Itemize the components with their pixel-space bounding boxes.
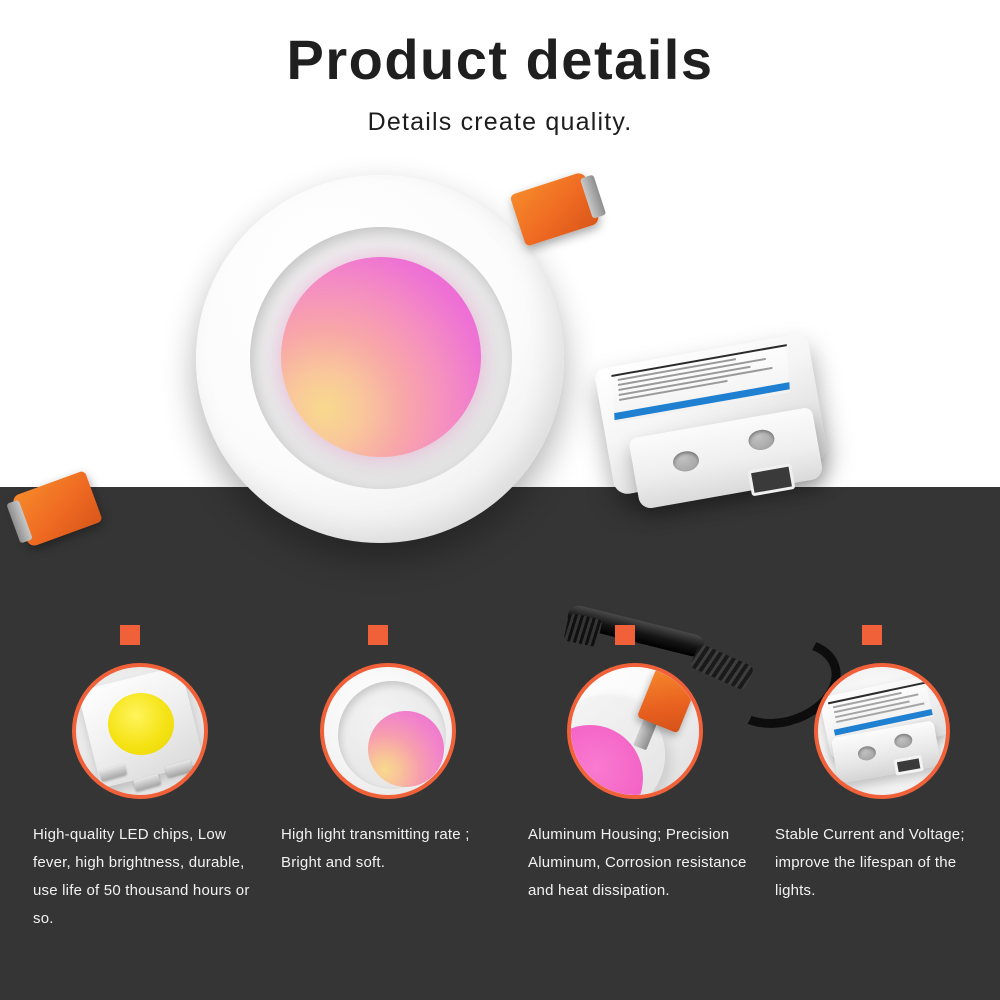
feature-item-aluminum-housing: Aluminum Housing; Precision Aluminum, Co… [517, 600, 765, 905]
spring-clip-bottom-left [11, 470, 103, 547]
rgb-lens [281, 257, 481, 457]
thumbnail-wrapper [72, 663, 270, 799]
phosphor-dot [108, 693, 174, 755]
dc-socket [748, 463, 796, 496]
dc-socket [893, 755, 923, 776]
feature-item-led-chip: High-quality LED chips, Low fever, high … [22, 600, 270, 933]
feature-text: Aluminum Housing; Precision Aluminum, Co… [528, 821, 756, 905]
mounting-hole [857, 745, 877, 762]
feature-item-light-transmission: High light transmitting rate ; Bright an… [270, 600, 518, 877]
lens-surface [368, 711, 444, 787]
mounting-hole [671, 449, 700, 473]
product-details-page: Product details Details create quality. [0, 0, 1000, 1000]
thumbnail-wrapper [567, 663, 765, 799]
orange-square-marker [615, 625, 635, 645]
downlight-bezel [196, 175, 564, 543]
feature-text: High-quality LED chips, Low fever, high … [33, 821, 261, 933]
orange-square-marker [120, 625, 140, 645]
page-title: Product details [0, 0, 1000, 88]
page-header: Product details Details create quality. [0, 0, 1000, 160]
hero-product-image [0, 150, 1000, 610]
feature-list: High-quality LED chips, Low fever, high … [0, 600, 1000, 1000]
feature-item-stable-current: Stable Current and Voltage; improve the … [764, 600, 1000, 905]
spring-clip-top-right [510, 171, 601, 246]
orange-square-marker [368, 625, 388, 645]
mounting-hole [747, 428, 776, 452]
led-driver-box [594, 332, 835, 527]
lens-ring [338, 681, 446, 789]
driver-icon [814, 663, 950, 799]
thumbnail-wrapper [320, 663, 518, 799]
feature-text: Stable Current and Voltage; improve the … [775, 821, 967, 905]
aluminum-housing-icon [567, 663, 703, 799]
feature-text: High light transmitting rate ; Bright an… [281, 821, 509, 877]
orange-square-marker [862, 625, 882, 645]
page-subtitle: Details create quality. [0, 88, 1000, 137]
bezel-inner-ring [250, 227, 512, 489]
lens-face-icon [320, 663, 456, 799]
mounting-hole [893, 732, 913, 749]
thumbnail-wrapper [814, 663, 1000, 799]
led-chip-icon [72, 663, 208, 799]
driver-label [611, 344, 790, 423]
